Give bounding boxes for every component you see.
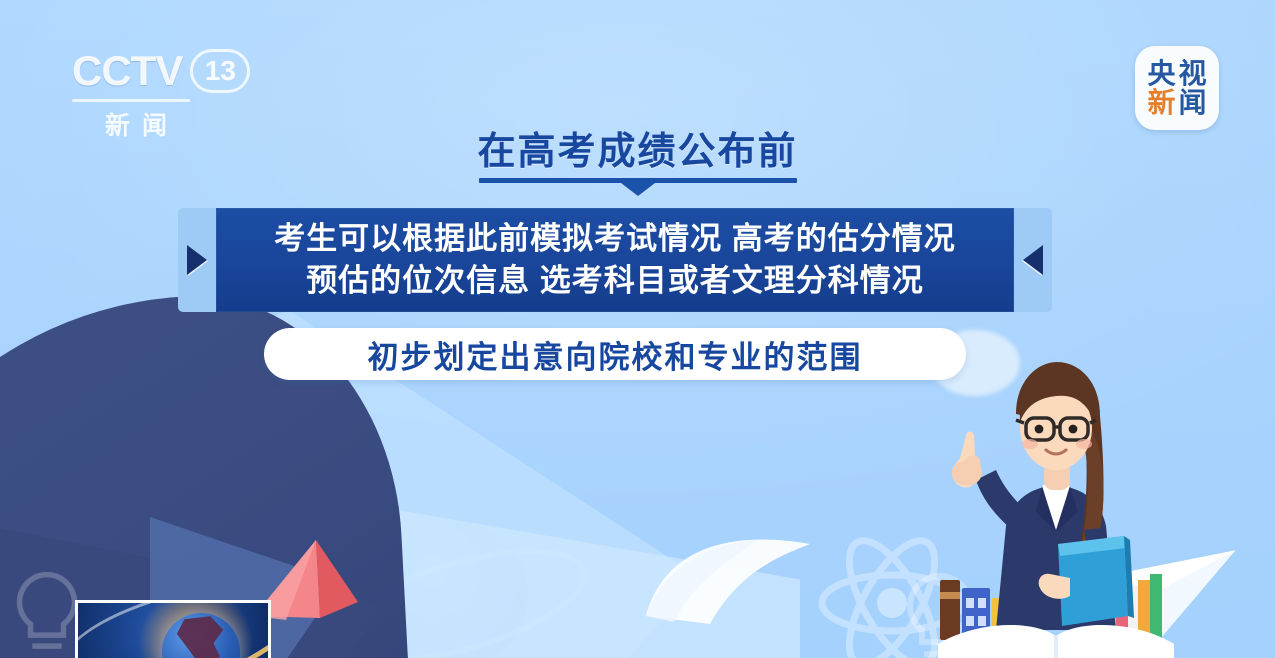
cctv-channel-logo: CCTV 13 新闻 — [72, 44, 252, 130]
headline-underline — [479, 178, 797, 183]
banner-right-marker — [1014, 208, 1052, 312]
cctv-news-badge: 央 视 新 闻 — [1135, 46, 1219, 130]
triangle-right-icon — [187, 245, 207, 275]
triangle-left-icon — [1023, 245, 1043, 275]
banner-left-marker — [178, 208, 216, 312]
cctv-news-badge-row-2: 新 闻 — [1147, 89, 1206, 117]
badge-char-yang: 央 — [1147, 60, 1175, 88]
pip-white-arc — [75, 600, 271, 658]
info-banner: 考生可以根据此前模拟考试情况 高考的估分情况 预估的位次信息 选考科目或者文理分… — [178, 208, 1052, 312]
callout-pill: 初步划定出意向院校和专业的范围 — [264, 328, 966, 380]
cctv-channel-number: 13 — [190, 49, 250, 93]
cctv-logo-row: CCTV 13 — [72, 44, 252, 98]
callout-pill-text: 初步划定出意向院校和专业的范围 — [368, 332, 863, 377]
banner-line-1: 考生可以根据此前模拟考试情况 高考的估分情况 — [274, 220, 956, 259]
badge-char-xin: 新 — [1147, 89, 1175, 117]
badge-char-shi: 视 — [1179, 60, 1207, 88]
pointing-hand-icon — [952, 432, 982, 488]
banner-text-box: 考生可以根据此前模拟考试情况 高考的估分情况 预估的位次信息 选考科目或者文理分… — [216, 208, 1014, 312]
pip-thumbnail[interactable] — [75, 600, 271, 658]
teacher-illustration — [938, 330, 1174, 658]
page-title: 在高考成绩公布前 — [477, 133, 797, 173]
globe-planet-shape — [378, 520, 528, 658]
curled-paper-sheet-icon — [640, 520, 830, 630]
badge-char-wen: 闻 — [1179, 89, 1207, 117]
pip-thumbnail-image — [78, 603, 268, 658]
cctv-news-badge-row-1: 央 视 — [1147, 60, 1206, 88]
cctv-wordmark: CCTV — [72, 47, 182, 95]
broadcast-graphic-stage: CCTV 13 新闻 央 视 新 闻 在高考成绩公布前 考生可以根据此前模拟考试… — [0, 0, 1275, 658]
headline-block: 在高考成绩公布前 — [0, 133, 1275, 183]
banner-line-2: 预估的位次信息 选考科目或者文理分科情况 — [306, 262, 924, 301]
planet-ring-shape — [322, 526, 599, 658]
cctv-logo-underline — [72, 99, 190, 102]
